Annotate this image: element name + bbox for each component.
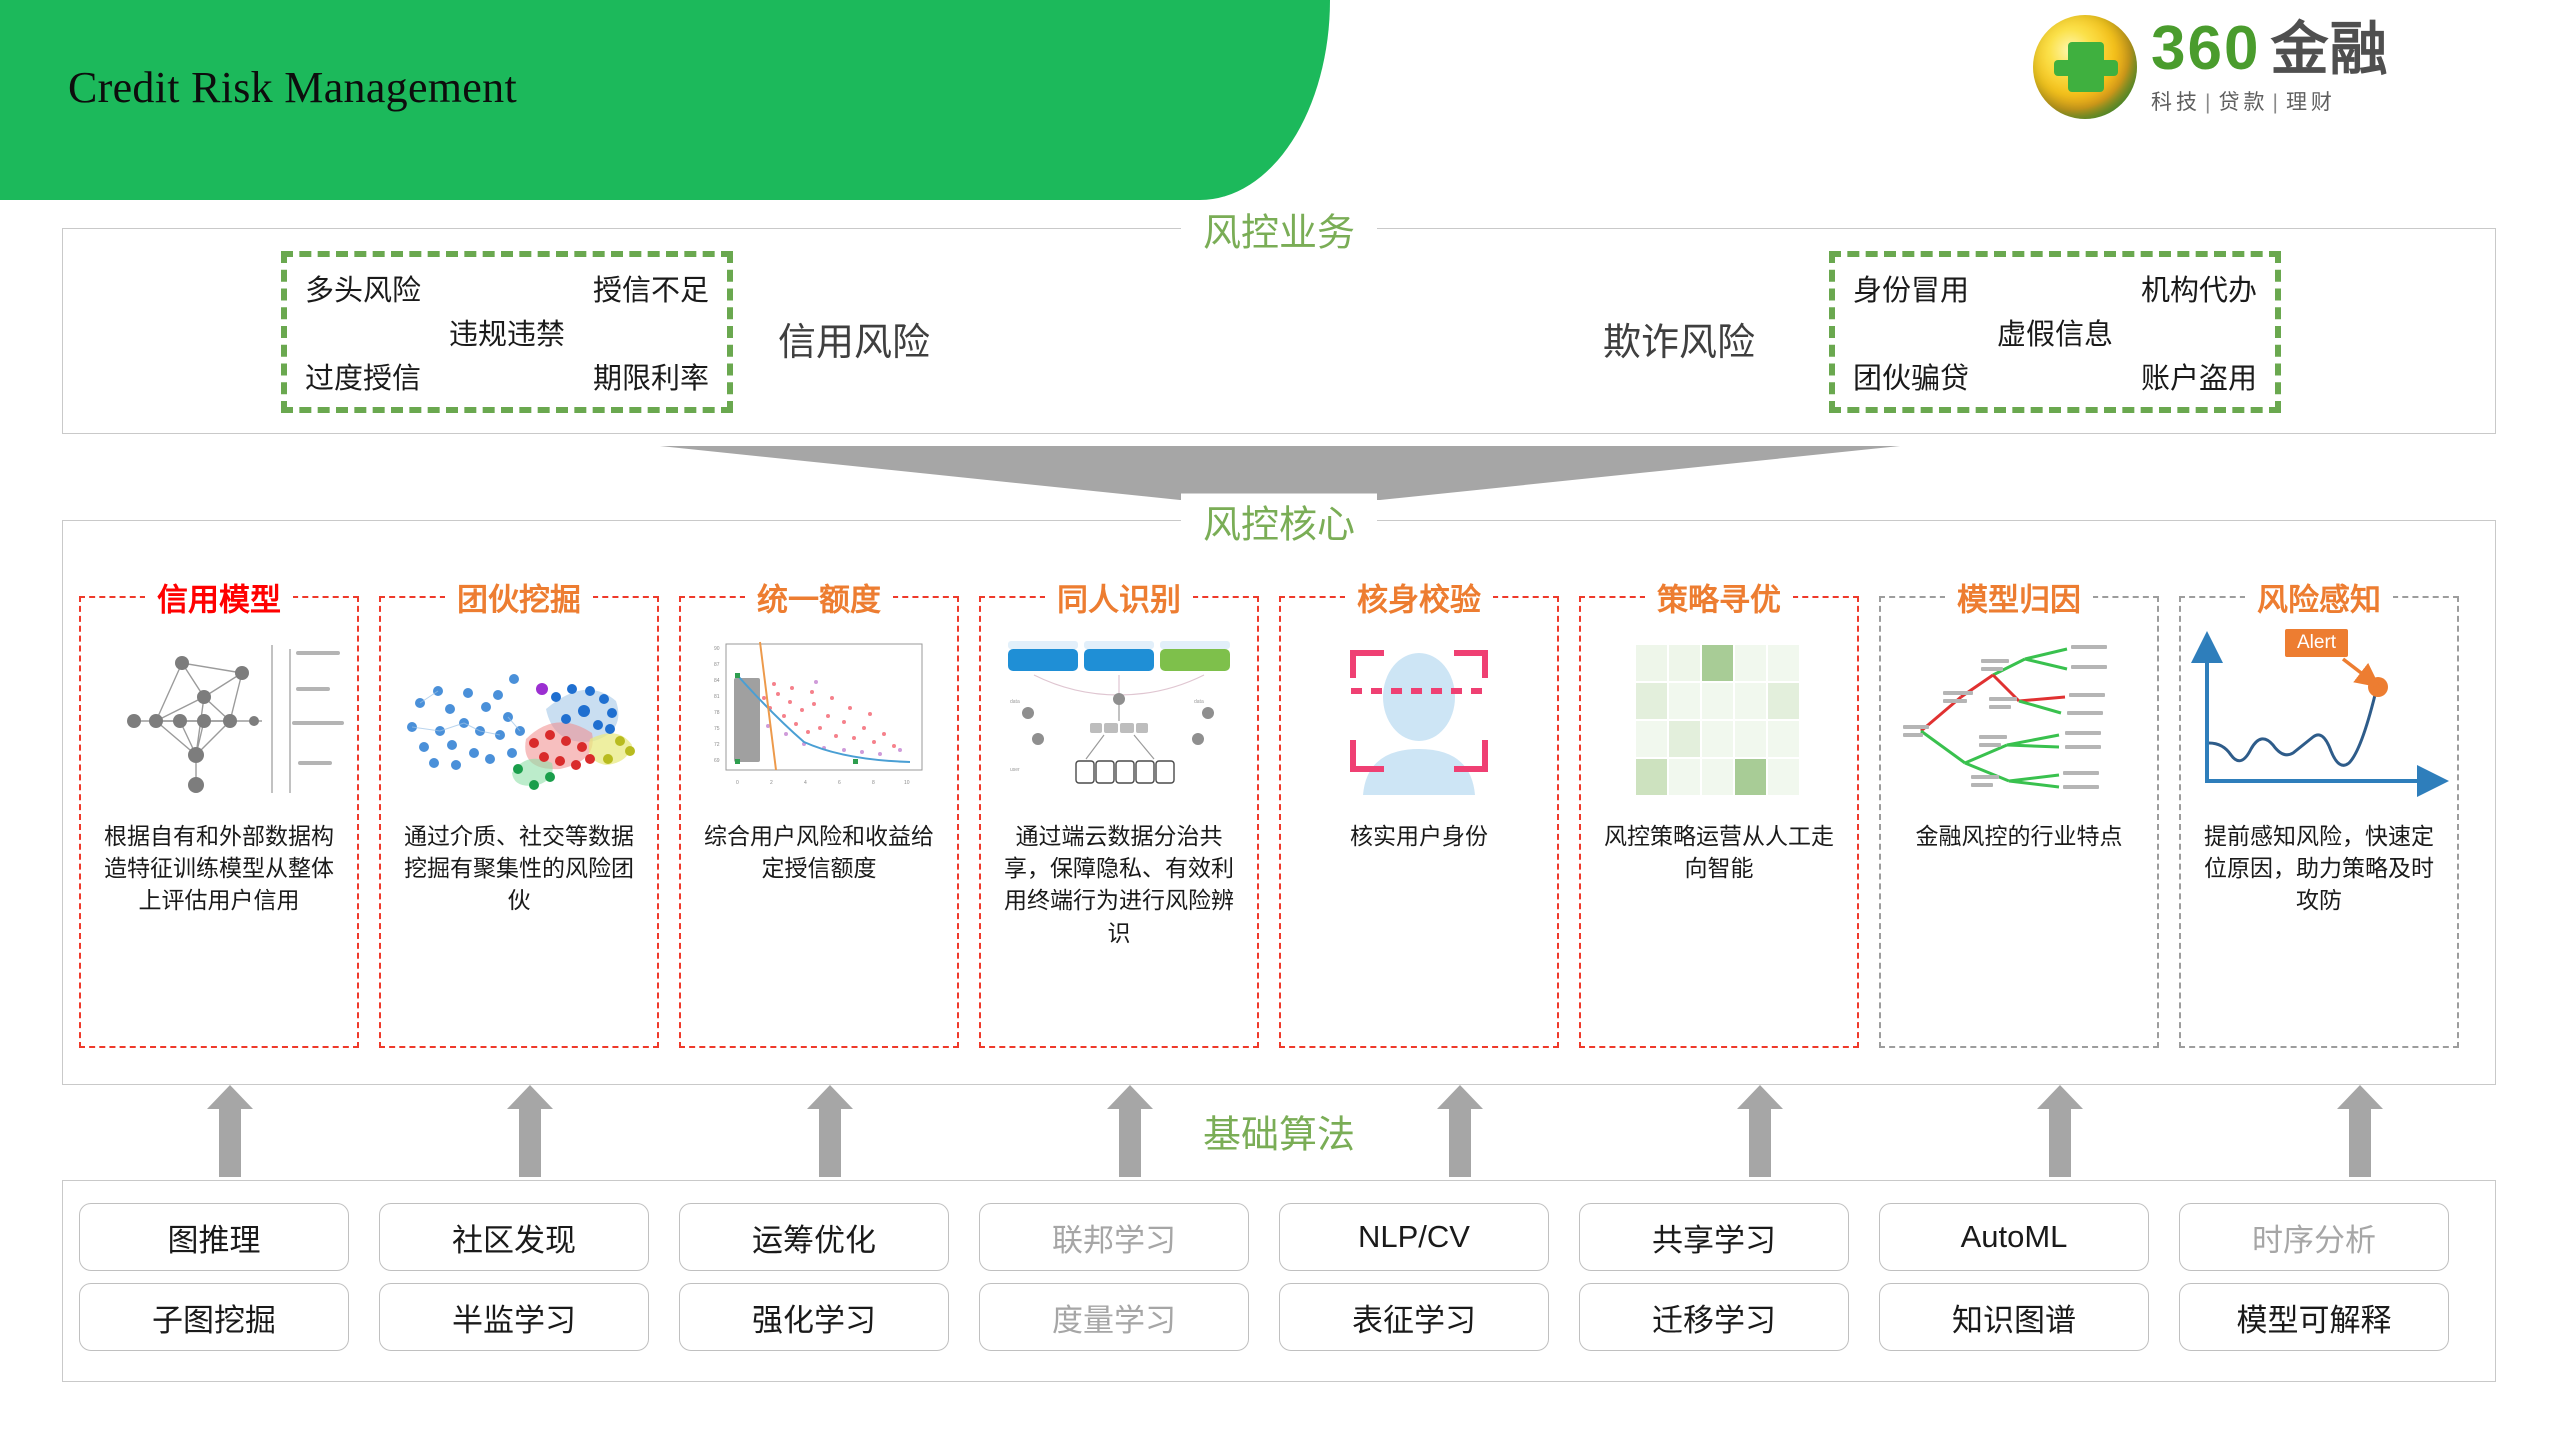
svg-text:84: 84 (714, 678, 720, 684)
core-panel: 信用模型 (62, 520, 2496, 1085)
svg-text:4: 4 (804, 780, 807, 786)
architecture-diagram-icon: datadata user (981, 630, 1257, 805)
cluster-graph-icon (381, 630, 657, 805)
svg-text:data: data (1194, 699, 1204, 705)
svg-text:10: 10 (904, 780, 910, 786)
tagline-item-1: 贷款 (2218, 91, 2268, 114)
arrow-up-icon-5 (1737, 1085, 1783, 1177)
core-card-desc-1: 通过介质、社交等数据挖掘有聚集性的风险团伙 (395, 820, 643, 917)
credit-risk-tag-row-2: 过度授信 期限利率 (287, 355, 727, 397)
arrow-up-icon-1 (507, 1085, 553, 1177)
svg-text:6: 6 (838, 780, 841, 786)
slide-root: Credit Risk Management 360 金融 科技|贷款|理财 多… (0, 0, 2559, 1439)
core-card-title-3: 同人识别 (1045, 575, 1193, 620)
algo-chip-3-bottom[interactable]: 度量学习 (979, 1283, 1249, 1351)
svg-text:user: user (1010, 767, 1020, 773)
core-card-strategy-optimization[interactable]: 策略寻优 (1579, 596, 1859, 1048)
360-orb-icon (2033, 15, 2137, 119)
core-card-desc-2: 综合用户风险和收益给定授信额度 (695, 820, 943, 884)
core-card-unified-credit-limit[interactable]: 统一额度 908784 817875 7269 024 6810 (679, 596, 959, 1048)
page-title: Credit Risk Management (68, 62, 517, 113)
arrow-up-icon-3 (1107, 1085, 1153, 1177)
fraud-risk-tag-2-0: 团伙骗贷 (1853, 355, 1969, 397)
algo-chip-0-top[interactable]: 图推理 (79, 1203, 349, 1271)
business-panel: 多头风险 授信不足 违规违禁 过度授信 期限利率 信用风险 欺诈风险 身份冒用 … (62, 228, 2496, 434)
core-card-title-4: 核身校验 (1345, 575, 1493, 620)
credit-risk-tag-0-1: 授信不足 (593, 267, 709, 309)
algo-chip-1-top[interactable]: 社区发现 (379, 1203, 649, 1271)
core-card-title-5: 策略寻优 (1645, 575, 1793, 620)
scatter-plot-icon: 908784 817875 7269 024 6810 (681, 630, 957, 805)
core-card-desc-3: 通过端云数据分治共享，保障隐私、有效利用终端行为进行风险辨识 (995, 820, 1243, 949)
core-card-title-0: 信用模型 (145, 575, 293, 620)
credit-risk-tag-2-0: 过度授信 (305, 355, 421, 397)
face-scan-icon (1281, 630, 1557, 805)
base-section-title: 基础算法 (1181, 1104, 1377, 1159)
heatmap-grid-icon (1581, 630, 1857, 805)
base-algorithms-panel: 图推理 社区发现 运筹优化 联邦学习 NLP/CV 共享学习 AutoML 时序… (62, 1180, 2496, 1382)
fraud-risk-tag-row-1: 虚假信息 (1835, 311, 2275, 353)
svg-text:75: 75 (714, 726, 720, 732)
algo-chip-7-bottom[interactable]: 模型可解释 (2179, 1283, 2449, 1351)
core-card-desc-4: 核实用户身份 (1295, 820, 1543, 852)
brand-logo-text: 360 金融 科技|贷款|理财 (2151, 18, 2388, 116)
decision-tree-icon (1881, 630, 2157, 805)
arrow-up-icon-6 (2037, 1085, 2083, 1177)
core-card-credit-model[interactable]: 信用模型 (79, 596, 359, 1048)
credit-risk-label: 信用风险 (778, 311, 930, 366)
algo-chip-4-bottom[interactable]: 表征学习 (1279, 1283, 1549, 1351)
fraud-risk-tag-0-0: 身份冒用 (1853, 267, 1969, 309)
svg-text:90: 90 (714, 646, 720, 652)
core-card-title-6: 模型归因 (1945, 575, 2093, 620)
tagline-item-0: 科技 (2151, 91, 2201, 114)
svg-text:78: 78 (714, 710, 720, 716)
algo-chip-2-bottom[interactable]: 强化学习 (679, 1283, 949, 1351)
algo-chip-1-bottom[interactable]: 半监学习 (379, 1283, 649, 1351)
algo-chip-7-top[interactable]: 时序分析 (2179, 1203, 2449, 1271)
algo-chip-0-bottom[interactable]: 子图挖掘 (79, 1283, 349, 1351)
core-card-risk-perception[interactable]: 风险感知 Alert (2179, 596, 2459, 1048)
svg-text:72: 72 (714, 742, 720, 748)
credit-risk-tag-1-0: 违规违禁 (449, 311, 565, 353)
fraud-risk-tagbox: 身份冒用 机构代办 虚假信息 团伙骗贷 账户盗用 (1829, 251, 2281, 413)
svg-text:0: 0 (736, 780, 739, 786)
core-card-desc-6: 金融风控的行业特点 (1895, 820, 2143, 852)
svg-text:81: 81 (714, 694, 720, 700)
core-section-title: 风控核心 (1181, 494, 1377, 549)
credit-risk-tag-row-0: 多头风险 授信不足 (287, 267, 727, 309)
algo-chip-6-bottom[interactable]: 知识图谱 (1879, 1283, 2149, 1351)
brand-number: 360 (2151, 18, 2260, 80)
brand-word: 金融 (2270, 21, 2388, 79)
algo-chip-3-top[interactable]: 联邦学习 (979, 1203, 1249, 1271)
core-card-title-7: 风险感知 (2245, 575, 2393, 620)
brand-logo: 360 金融 科技|贷款|理财 (2033, 8, 2533, 126)
alert-line-chart-icon: Alert (2181, 620, 2457, 805)
core-card-same-person-recognition[interactable]: 同人识别 (979, 596, 1259, 1048)
fraud-risk-tag-row-0: 身份冒用 机构代办 (1835, 267, 2275, 309)
core-card-title-1: 团伙挖掘 (445, 575, 593, 620)
core-card-desc-0: 根据自有和外部数据构造特征训练模型从整体上评估用户信用 (95, 820, 343, 917)
arrow-up-icon-2 (807, 1085, 853, 1177)
core-card-desc-7: 提前感知风险，快速定位原因，助力策略及时攻防 (2195, 820, 2443, 917)
algo-chip-4-top[interactable]: NLP/CV (1279, 1203, 1549, 1271)
algo-chip-5-bottom[interactable]: 迁移学习 (1579, 1283, 1849, 1351)
arrow-up-icon-4 (1437, 1085, 1483, 1177)
fraud-risk-tag-row-2: 团伙骗贷 账户盗用 (1835, 355, 2275, 397)
fraud-risk-tag-2-1: 账户盗用 (2141, 355, 2257, 397)
credit-risk-tag-2-1: 期限利率 (593, 355, 709, 397)
fraud-risk-tag-1-0: 虚假信息 (1997, 311, 2113, 353)
fraud-risk-label: 欺诈风险 (1603, 311, 1755, 366)
tagline-separator-0: | (2201, 91, 2218, 114)
tagline-separator-1: | (2268, 91, 2285, 114)
core-card-gang-mining[interactable]: 团伙挖掘 (379, 596, 659, 1048)
core-card-title-2: 统一额度 (745, 575, 893, 620)
svg-text:87: 87 (714, 662, 720, 668)
funnel-connector (660, 446, 1900, 500)
business-section-title: 风控业务 (1181, 202, 1377, 257)
svg-text:8: 8 (872, 780, 875, 786)
credit-risk-tagbox: 多头风险 授信不足 违规违禁 过度授信 期限利率 (281, 251, 733, 413)
tagline-item-2: 理财 (2286, 91, 2336, 114)
svg-text:2: 2 (770, 780, 773, 786)
core-card-identity-verification[interactable]: 核身校验 核实用户身份 (1279, 596, 1559, 1048)
svg-text:69: 69 (714, 758, 720, 764)
svg-text:data: data (1010, 699, 1020, 705)
algo-chip-2-top[interactable]: 运筹优化 (679, 1203, 949, 1271)
algo-chip-5-top[interactable]: 共享学习 (1579, 1203, 1849, 1271)
core-card-desc-5: 风控策略运营从人工走向智能 (1595, 820, 1843, 884)
credit-risk-tag-0-0: 多头风险 (305, 267, 421, 309)
core-card-model-attribution[interactable]: 模型归因 (1879, 596, 2159, 1048)
fraud-risk-tag-0-1: 机构代办 (2141, 267, 2257, 309)
arrow-up-icon-7 (2337, 1085, 2383, 1177)
algo-chip-6-top[interactable]: AutoML (1879, 1203, 2149, 1271)
brand-tagline: 科技|贷款|理财 (2151, 86, 2388, 116)
credit-risk-tag-row-1: 违规违禁 (287, 311, 727, 353)
arrow-up-icon-0 (207, 1085, 253, 1177)
neural-network-graph-icon (81, 630, 357, 805)
